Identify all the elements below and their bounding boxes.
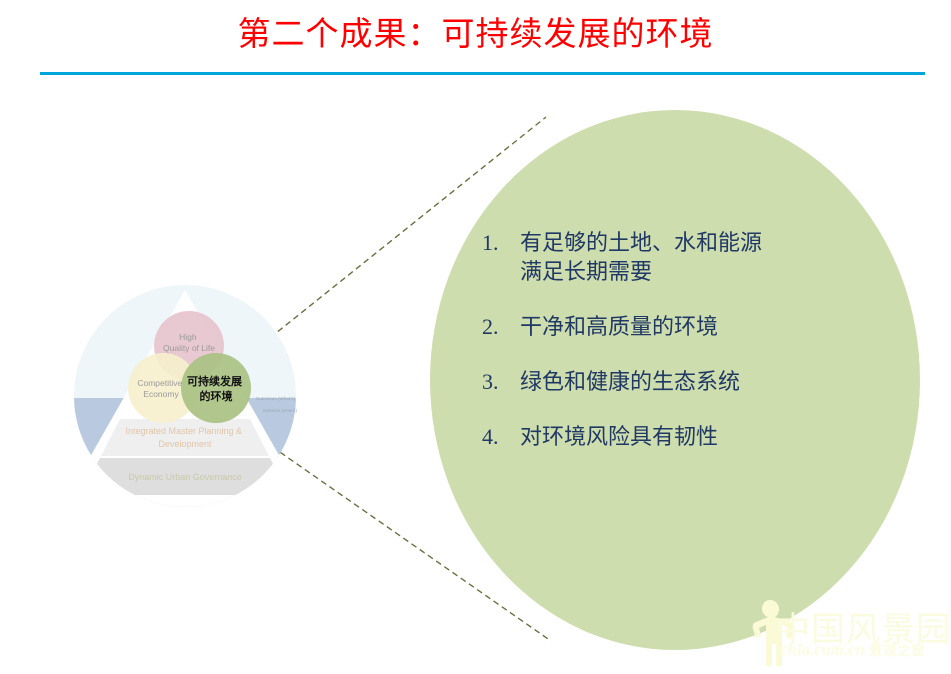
list-item: 1. 有足够的土地、水和能源满足长期需要 (482, 228, 882, 286)
list-item-number: 4. (482, 422, 520, 451)
watermark-tagline: 景观之窗 (869, 643, 925, 658)
list-item: 2. 干净和高质量的环境 (482, 312, 882, 341)
side-label-outcomes: Outcomes (What’s) (256, 396, 296, 401)
list-item-label: 干净和高质量的环境 (520, 312, 882, 341)
list-item-label: 有足够的土地、水和能源满足长期需要 (520, 228, 882, 286)
list-item-label: 绿色和健康的生态系统 (520, 367, 882, 396)
list-item-number: 1. (482, 228, 520, 257)
framework-diagram: High Quality of Life Competitive Economy… (73, 284, 297, 508)
list-item: 4. 对环境风险具有韧性 (482, 422, 882, 451)
circle-label-competitive-economy: Competitive Economy (137, 378, 184, 399)
list-item-number: 2. (482, 312, 520, 341)
list-item-label: 对环境风险具有韧性 (520, 422, 882, 451)
watermark-domain: chla.com.cn (780, 640, 865, 659)
band-label-dynamic-urban-governance: Dynamic Urban Governance (128, 472, 242, 482)
watermark-subtitle: chla.com.cn 景观之窗 (780, 640, 925, 660)
page-title: 第二个成果：可持续发展的环境 (0, 14, 951, 56)
slide-canvas: 第二个成果：可持续发展的环境 1. 有足够的土地、水和能源满足长期需要 2. 干… (0, 0, 951, 674)
list-item-number: 3. (482, 367, 520, 396)
circle-sustainable-environment (181, 353, 251, 423)
outcome-list: 1. 有足够的土地、水和能源满足长期需要 2. 干净和高质量的环境 3. 绿色和… (482, 228, 882, 451)
side-label-systems: Systems (How’s) (263, 408, 297, 413)
band-integrated-master-planning (101, 419, 269, 456)
title-divider (40, 72, 925, 75)
list-item: 3. 绿色和健康的生态系统 (482, 367, 882, 396)
